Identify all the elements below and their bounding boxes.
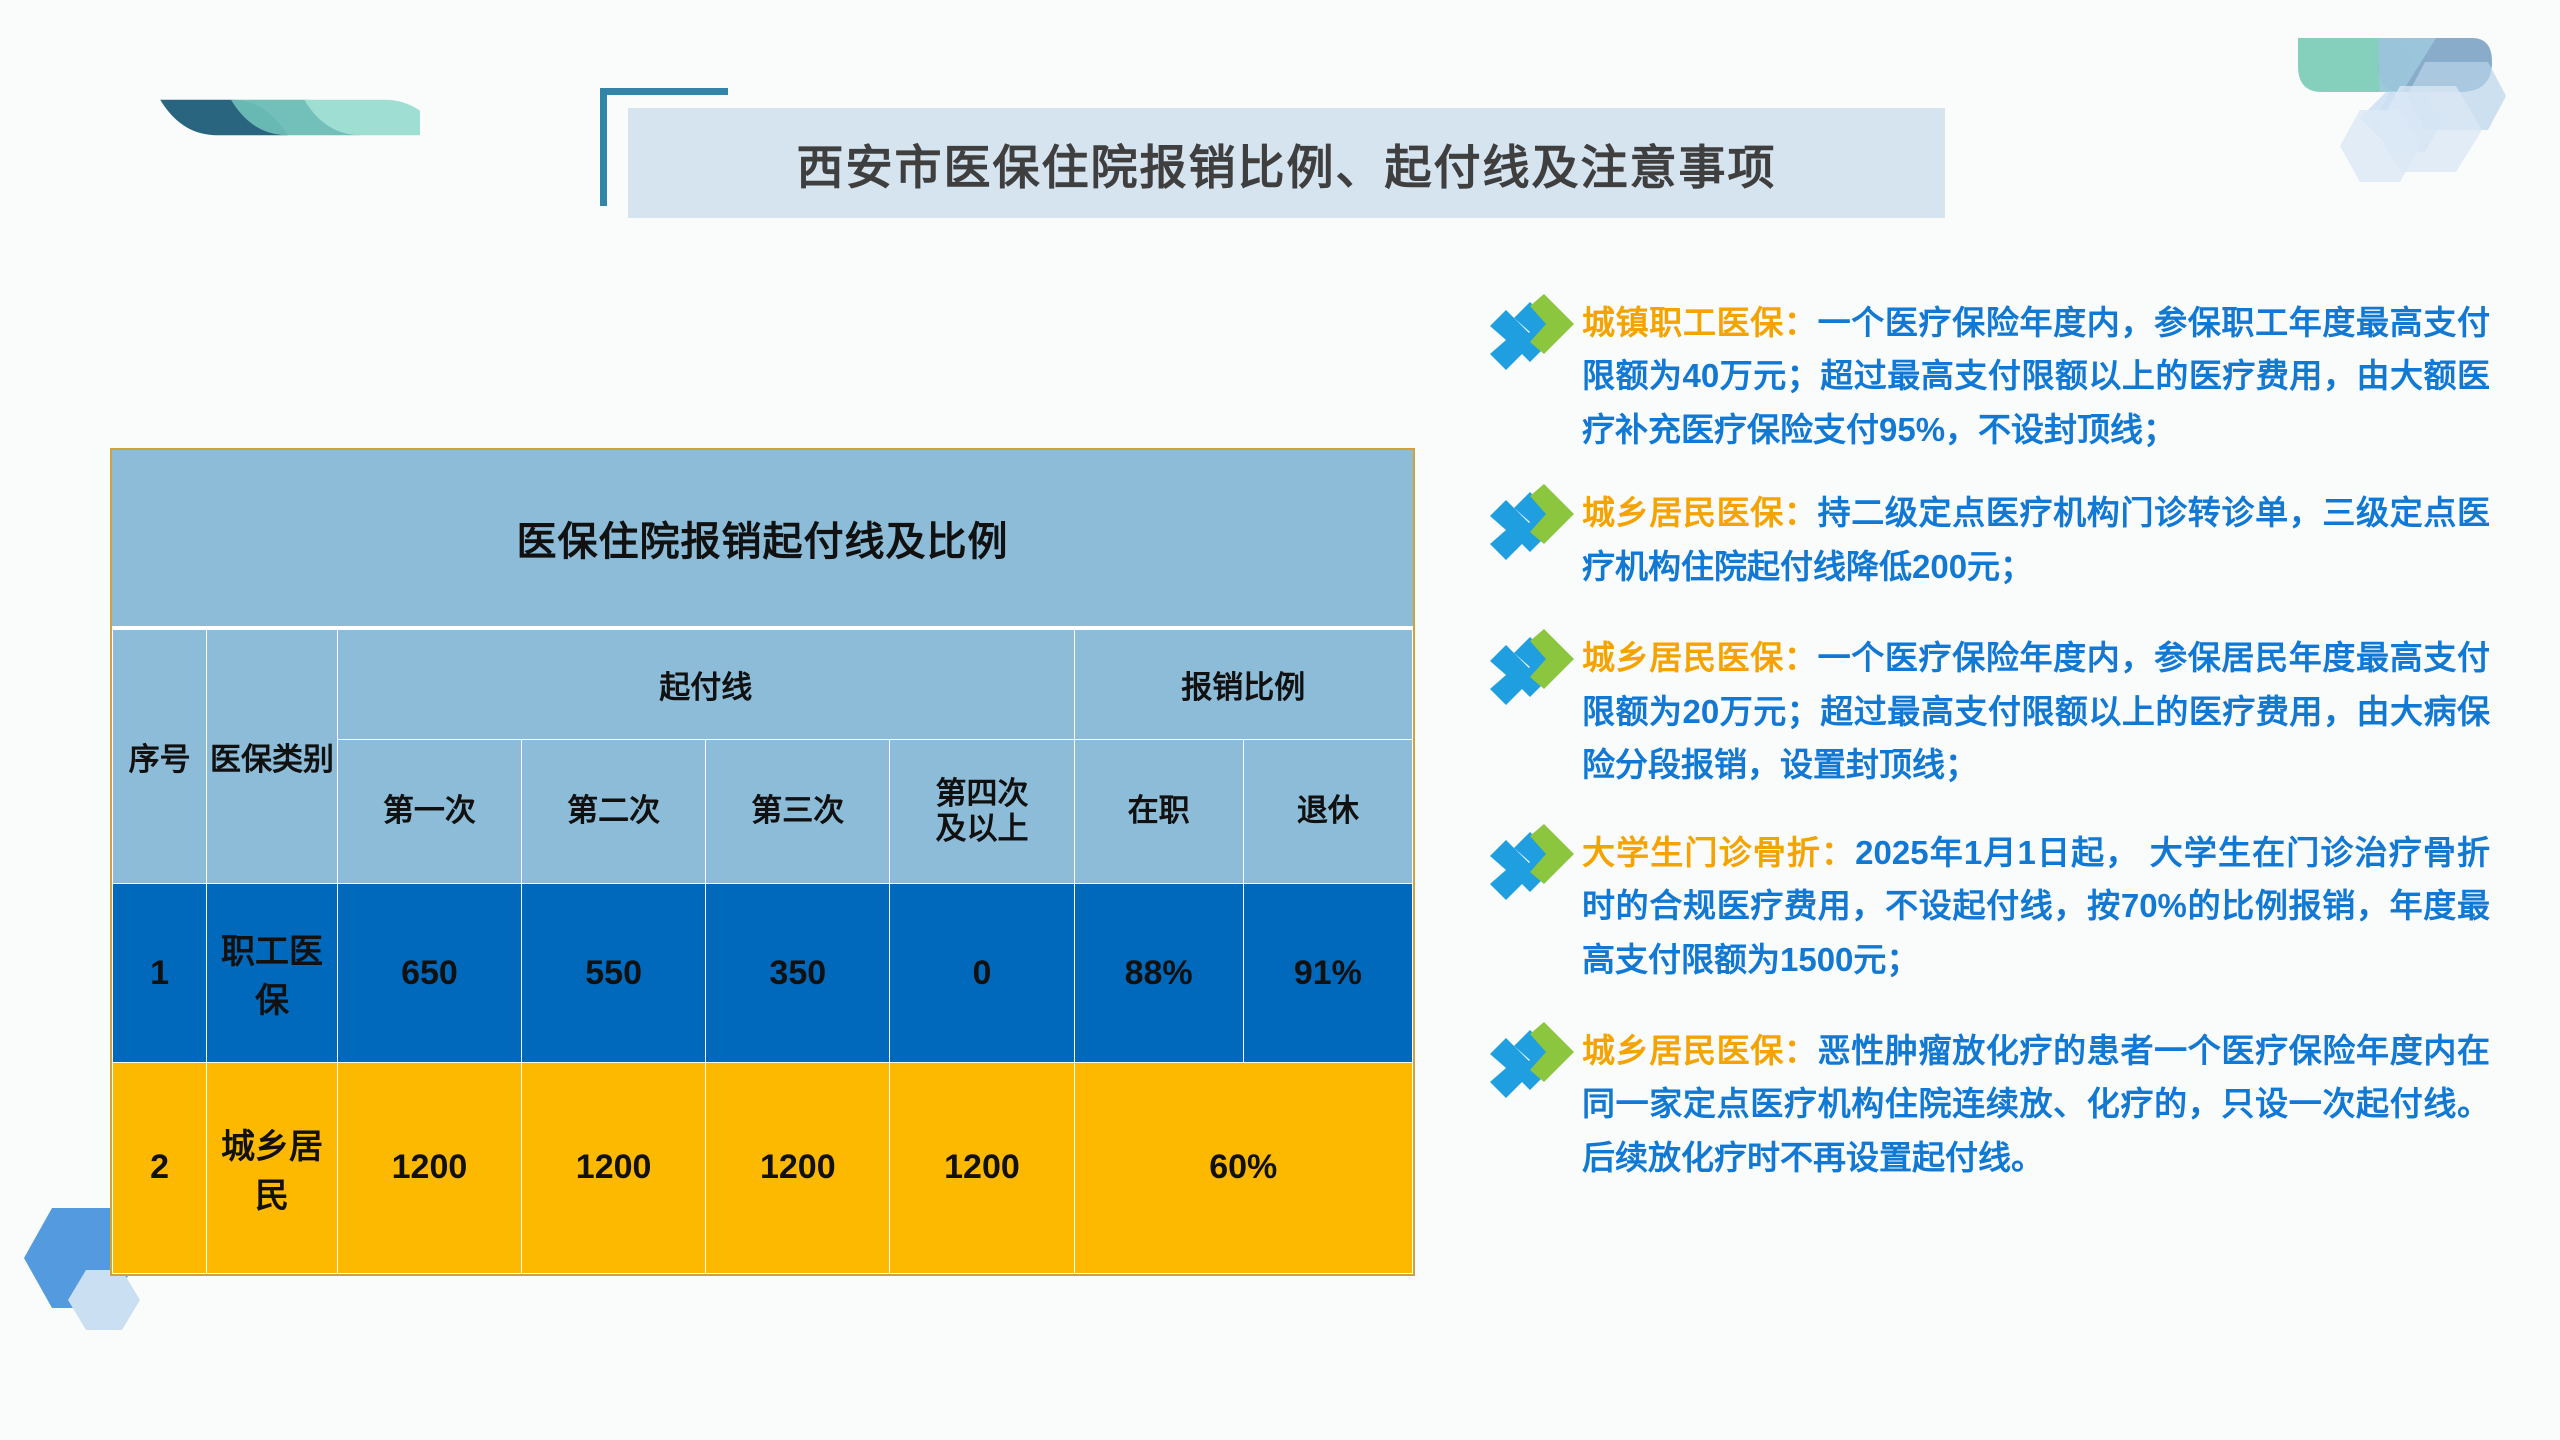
table-row: 1 职工医保 650 550 350 0 88% 91% <box>113 884 1413 1062</box>
page-title: 西安市医保住院报销比例、起付线及注意事项 <box>628 108 1945 218</box>
header-index: 序号 <box>113 628 207 884</box>
cell-index: 1 <box>113 884 207 1062</box>
header-fourth-visit: 第四次 及以上 <box>890 739 1074 884</box>
list-item-text: 城乡居民医保：持二级定点医疗机构门诊转诊单，三级定点医疗机构住院起付线降低200… <box>1582 482 2490 593</box>
notes-list: 城镇职工医保：一个医疗保险年度内，参保职工年度最高支付限额为40万元；超过最高支… <box>1480 292 2490 1210</box>
list-item: 城乡居民医保：恶性肿瘤放化疗的患者一个医疗保险年度内在同一家定点医疗机构住院连续… <box>1480 1020 2490 1184</box>
cell-third: 350 <box>706 884 890 1062</box>
cell-fourth: 0 <box>890 884 1074 1062</box>
table-group-header-row: 序号 医保类别 起付线 报销比例 <box>113 628 1413 739</box>
header-third-visit: 第三次 <box>706 739 890 884</box>
double-chevron-arrow-icon <box>1480 822 1576 918</box>
header-working: 在职 <box>1074 739 1243 884</box>
cell-second: 550 <box>522 884 706 1062</box>
list-item: 大学生门诊骨折：2025年1月1日起， 大学生在门诊治疗骨折时的合规医疗费用，不… <box>1480 822 2490 986</box>
list-item-lead: 大学生门诊骨折： <box>1582 834 1855 871</box>
cell-third: 1200 <box>706 1062 890 1273</box>
list-item-text: 城镇职工医保：一个医疗保险年度内，参保职工年度最高支付限额为40万元；超过最高支… <box>1582 292 2490 456</box>
table-caption: 医保住院报销起付线及比例 <box>113 450 1413 628</box>
header-ratio: 报销比例 <box>1074 628 1412 739</box>
double-chevron-arrow-icon <box>1480 1020 1576 1116</box>
table-row: 2 城乡居民 1200 1200 1200 1200 60% <box>113 1062 1413 1273</box>
list-item-lead: 城镇职工医保： <box>1582 304 1818 341</box>
header-deductible: 起付线 <box>337 628 1074 739</box>
double-chevron-arrow-icon <box>1480 292 1576 388</box>
header-second-visit: 第二次 <box>522 739 706 884</box>
cell-index: 2 <box>113 1062 207 1273</box>
list-item: 城镇职工医保：一个医疗保险年度内，参保职工年度最高支付限额为40万元；超过最高支… <box>1480 292 2490 456</box>
list-item-text: 大学生门诊骨折：2025年1月1日起， 大学生在门诊治疗骨折时的合规医疗费用，不… <box>1582 822 2490 986</box>
list-item: 城乡居民医保：持二级定点医疗机构门诊转诊单，三级定点医疗机构住院起付线降低200… <box>1480 482 2490 593</box>
list-item: 城乡居民医保：一个医疗保险年度内，参保居民年度最高支付限额为20万元；超过最高支… <box>1480 627 2490 791</box>
list-item-text: 城乡居民医保：一个医疗保险年度内，参保居民年度最高支付限额为20万元；超过最高支… <box>1582 627 2490 791</box>
cell-first: 1200 <box>337 1062 521 1273</box>
list-item-lead: 城乡居民医保： <box>1582 639 1818 676</box>
cell-second: 1200 <box>522 1062 706 1273</box>
cell-category: 职工医保 <box>207 884 338 1062</box>
list-item-text: 城乡居民医保：恶性肿瘤放化疗的患者一个医疗保险年度内在同一家定点医疗机构住院连续… <box>1582 1020 2490 1184</box>
cell-retired: 91% <box>1243 884 1412 1062</box>
header-category: 医保类别 <box>207 628 338 884</box>
double-chevron-arrow-icon <box>1480 482 1576 578</box>
top-right-decoration <box>2260 0 2560 200</box>
double-chevron-arrow-icon <box>1480 627 1576 723</box>
cell-working: 88% <box>1074 884 1243 1062</box>
slide-canvas: 西安市医保住院报销比例、起付线及注意事项 医保住院报销起付线及比例 序号 医保类… <box>0 0 2560 1440</box>
cell-category: 城乡居民 <box>207 1062 338 1273</box>
cell-first: 650 <box>337 884 521 1062</box>
cell-fourth: 1200 <box>890 1062 1074 1273</box>
header-fourth-visit-line1: 第四次 <box>890 777 1073 812</box>
header-first-visit: 第一次 <box>337 739 521 884</box>
top-left-decoration <box>0 0 420 170</box>
reimbursement-table-container: 医保住院报销起付线及比例 序号 医保类别 起付线 报销比例 第一次 第二次 第三… <box>110 448 1415 1276</box>
header-fourth-visit-line2: 及以上 <box>890 812 1073 847</box>
list-item-lead: 城乡居民医保： <box>1582 1032 1818 1069</box>
cell-ratio-merged: 60% <box>1074 1062 1412 1273</box>
reimbursement-table: 医保住院报销起付线及比例 序号 医保类别 起付线 报销比例 第一次 第二次 第三… <box>112 450 1413 1274</box>
header-retired: 退休 <box>1243 739 1412 884</box>
table-caption-row: 医保住院报销起付线及比例 <box>113 450 1413 628</box>
list-item-lead: 城乡居民医保： <box>1582 494 1818 531</box>
